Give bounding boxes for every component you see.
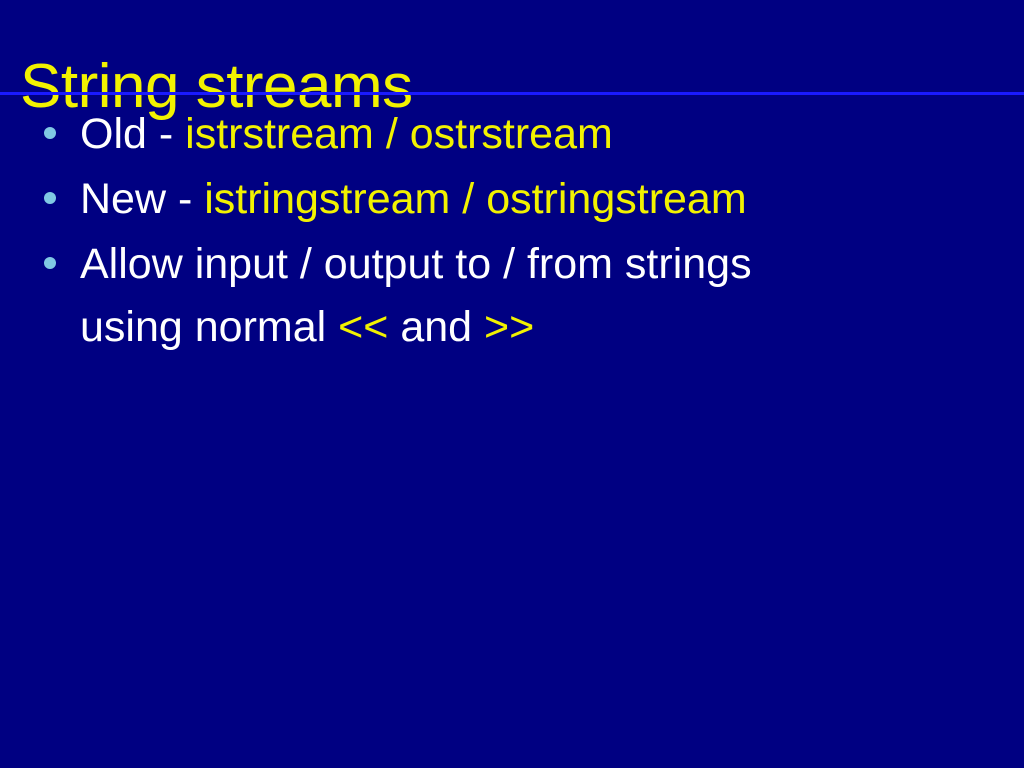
bullet-2-code: istringstream / ostringstream [204, 175, 746, 223]
bullet-dot-icon [44, 127, 56, 139]
bullet-dot-icon [44, 257, 56, 269]
title-divider-rule [0, 92, 1024, 95]
bullet-3-conjunction: and [388, 303, 484, 351]
list-item: Old - istrstream / ostrstream [40, 103, 1000, 166]
bullet-2-label: New - [80, 175, 204, 223]
bullet-dot-icon [44, 192, 56, 204]
bullet-3-line-1: Allow input / output to / from strings [80, 233, 1000, 296]
list-item: Allow input / output to / from strings u… [40, 233, 1000, 359]
slide-canvas: String streams Old - istrstream / ostrst… [0, 0, 1024, 768]
list-item: New - istringstream / ostringstream [40, 168, 1000, 231]
bullet-3-line-2: using normal << and >> [80, 296, 1000, 359]
bullet-3-prefix: using normal [80, 303, 338, 351]
bullet-list: Old - istrstream / ostrstream New - istr… [40, 103, 1000, 361]
bullet-1-code: istrstream / ostrstream [185, 110, 613, 158]
insertion-operator: << [338, 303, 388, 351]
bullet-1-label: Old - [80, 110, 185, 158]
extraction-operator: >> [484, 303, 534, 351]
